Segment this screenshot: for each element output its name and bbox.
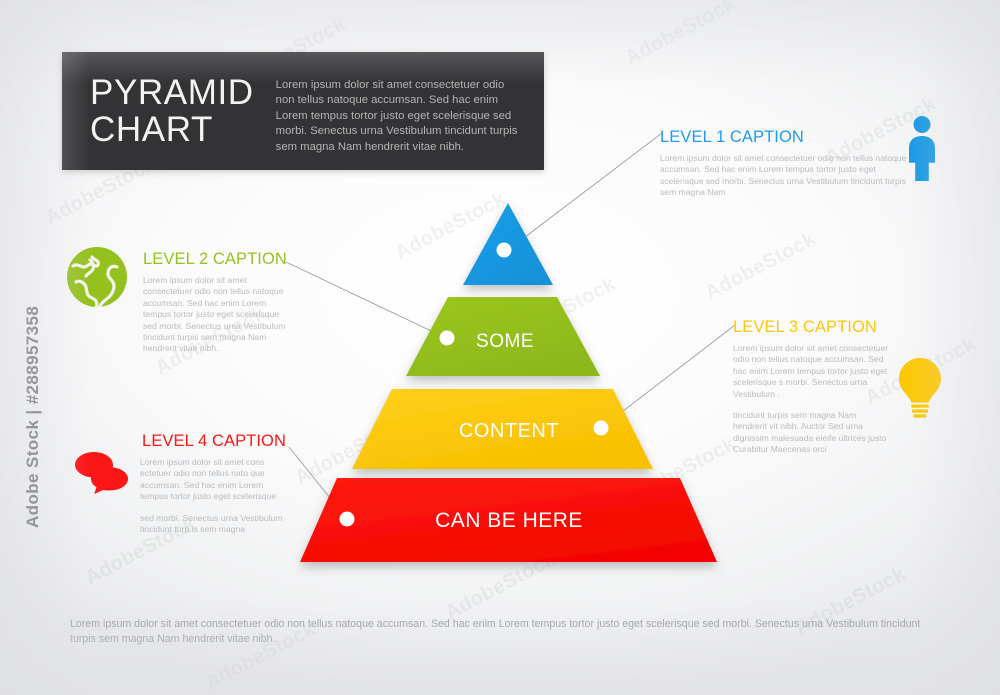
connector-line-2 <box>286 262 446 338</box>
connector-line-3 <box>601 325 735 428</box>
person-icon <box>900 115 944 186</box>
pyramid-level-4-label: CAN BE HERE <box>435 509 583 532</box>
watermark-tile: AdobeStock <box>622 0 740 70</box>
connector-dot-1[interactable] <box>497 243 512 258</box>
pyramid-level-3-label: CONTENT <box>459 420 559 442</box>
pyramid-level-4[interactable] <box>300 478 717 562</box>
caption-level-3-title: LEVEL 3 CAPTION <box>733 318 893 337</box>
footer-text: Lorem ipsum dolor sit amet consectetuer … <box>70 617 932 647</box>
caption-level-3-body-1: Lorem ipsum dolor sit amet consectetuer … <box>733 343 891 400</box>
connector-dot-2[interactable] <box>440 331 455 346</box>
caption-level-1: LEVEL 1 CAPTION Lorem ipsum dolor sit am… <box>660 128 912 199</box>
page-title: PYRAMID CHART <box>90 74 254 148</box>
connector-dots <box>340 243 609 527</box>
watermark-adobe-stock: Adobe Stock | #288957358 <box>23 328 43 528</box>
caption-level-4-body-1: Lorem ipsum dolor sit amet cons ectetuer… <box>140 457 284 503</box>
connector-dot-4[interactable] <box>340 512 355 527</box>
watermark-tile: AdobeStock <box>622 433 740 510</box>
pyramid-level-2[interactable] <box>406 297 600 376</box>
watermark-tile: AdobeStock <box>292 413 410 490</box>
header-card: PYRAMID CHART Lorem ipsum dolor sit amet… <box>62 52 544 170</box>
caption-level-2-title: LEVEL 2 CAPTION <box>143 250 291 269</box>
caption-level-2: LEVEL 2 CAPTION Lorem ipsum dolor sit am… <box>143 250 291 355</box>
caption-level-4-body-2: sed morbi. Senectus urna Vestibulum tinc… <box>140 513 284 536</box>
caption-level-4: LEVEL 4 CAPTION Lorem ipsum dolor sit am… <box>140 432 286 535</box>
caption-level-3-body-2: tincidunt turpis sem magna Nam hendrerit… <box>733 410 891 456</box>
speech-bubbles-icon <box>74 450 128 499</box>
header-description: Lorem ipsum dolor sit amet consectetuer … <box>276 74 518 155</box>
caption-level-4-title: LEVEL 4 CAPTION <box>140 432 286 451</box>
watermark-tile: AdobeStock <box>702 228 820 305</box>
pyramid-level-2-label: SOME <box>476 331 534 352</box>
caption-level-1-body: Lorem ipsum dolor sit amet consectetuer … <box>660 153 910 199</box>
pyramid-level-1[interactable] <box>463 203 553 285</box>
infographic-canvas: AdobeStock AdobeStock AdobeStock AdobeSt… <box>0 0 1000 695</box>
watermark-tile: AdobeStock <box>502 273 620 350</box>
globe-icon <box>66 246 128 313</box>
connector-line-4 <box>289 447 347 519</box>
caption-level-1-title: LEVEL 1 CAPTION <box>660 128 912 147</box>
caption-level-3: LEVEL 3 CAPTION Lorem ipsum dolor sit am… <box>733 318 893 456</box>
lightbulb-icon <box>896 357 944 424</box>
watermark-tile: AdobeStock <box>442 548 560 625</box>
connector-dot-3[interactable] <box>594 421 609 436</box>
pyramid-level-3[interactable] <box>352 389 653 469</box>
watermark-tile: AdobeStock <box>392 188 510 265</box>
caption-level-2-body: Lorem ipsum dolor sit amet consectetuer … <box>143 275 289 355</box>
